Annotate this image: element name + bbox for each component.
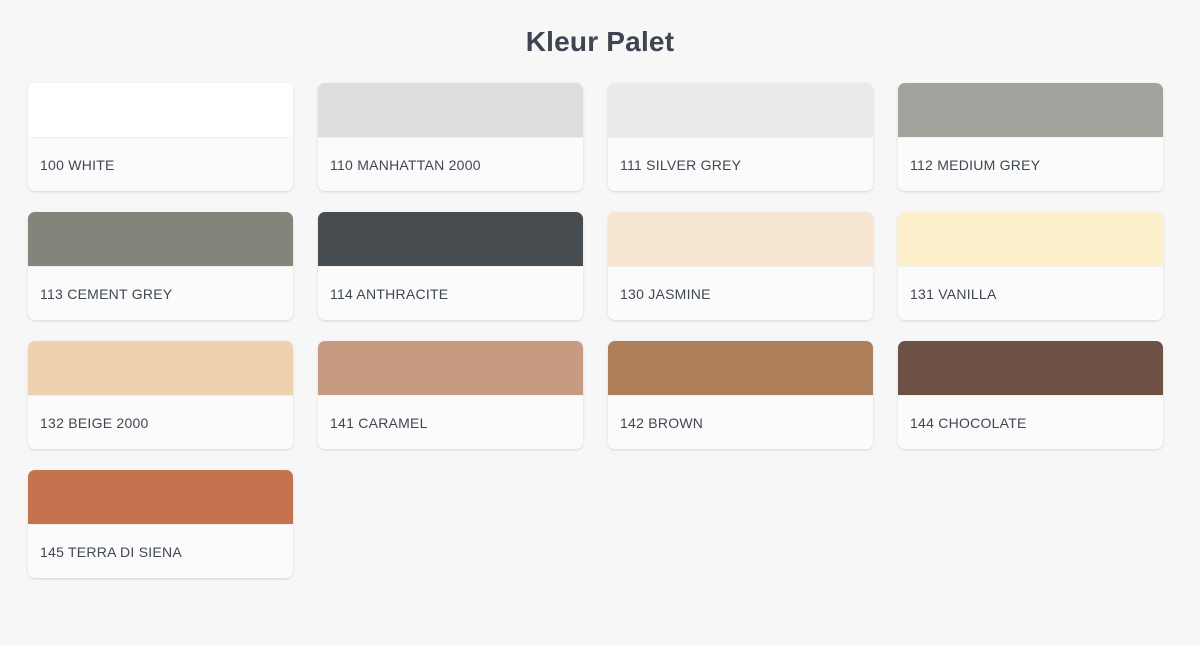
color-card[interactable]: 145 TERRA DI SIENA bbox=[28, 470, 293, 578]
color-card[interactable]: 141 CARAMEL bbox=[318, 341, 583, 449]
color-palette-page: Kleur Palet 100 WHITE110 MANHATTAN 20001… bbox=[0, 0, 1200, 646]
color-label: 130 JASMINE bbox=[608, 285, 711, 303]
color-label: 142 BROWN bbox=[608, 414, 703, 432]
color-card[interactable]: 130 JASMINE bbox=[608, 212, 873, 320]
color-label: 111 SILVER GREY bbox=[608, 156, 741, 174]
color-swatch bbox=[28, 83, 293, 137]
color-card[interactable]: 144 CHOCOLATE bbox=[898, 341, 1163, 449]
color-label: 114 ANTHRACITE bbox=[318, 285, 448, 303]
color-swatch bbox=[898, 341, 1163, 395]
color-label-row: 111 SILVER GREY bbox=[608, 137, 873, 191]
color-label-row: 110 MANHATTAN 2000 bbox=[318, 137, 583, 191]
color-label-row: 112 MEDIUM GREY bbox=[898, 137, 1163, 191]
color-label-row: 141 CARAMEL bbox=[318, 395, 583, 449]
color-label-row: 142 BROWN bbox=[608, 395, 873, 449]
color-label: 110 MANHATTAN 2000 bbox=[318, 156, 481, 174]
color-card[interactable]: 131 VANILLA bbox=[898, 212, 1163, 320]
color-swatch bbox=[28, 470, 293, 524]
color-label-row: 132 BEIGE 2000 bbox=[28, 395, 293, 449]
color-card[interactable]: 110 MANHATTAN 2000 bbox=[318, 83, 583, 191]
color-label: 100 WHITE bbox=[28, 156, 115, 174]
color-label: 132 BEIGE 2000 bbox=[28, 414, 149, 432]
color-card[interactable]: 114 ANTHRACITE bbox=[318, 212, 583, 320]
color-label: 131 VANILLA bbox=[898, 285, 997, 303]
color-card[interactable]: 142 BROWN bbox=[608, 341, 873, 449]
color-card[interactable]: 100 WHITE bbox=[28, 83, 293, 191]
color-card[interactable]: 132 BEIGE 2000 bbox=[28, 341, 293, 449]
color-label: 144 CHOCOLATE bbox=[898, 414, 1027, 432]
color-label-row: 144 CHOCOLATE bbox=[898, 395, 1163, 449]
page-title: Kleur Palet bbox=[0, 0, 1200, 59]
color-swatch bbox=[608, 212, 873, 266]
color-swatch bbox=[28, 212, 293, 266]
color-label-row: 114 ANTHRACITE bbox=[318, 266, 583, 320]
color-palette-grid: 100 WHITE110 MANHATTAN 2000111 SILVER GR… bbox=[0, 59, 1200, 578]
color-label: 145 TERRA DI SIENA bbox=[28, 543, 182, 561]
color-card[interactable]: 112 MEDIUM GREY bbox=[898, 83, 1163, 191]
color-swatch bbox=[318, 212, 583, 266]
color-label: 141 CARAMEL bbox=[318, 414, 428, 432]
color-swatch bbox=[608, 341, 873, 395]
color-card[interactable]: 113 CEMENT GREY bbox=[28, 212, 293, 320]
color-label-row: 130 JASMINE bbox=[608, 266, 873, 320]
color-label: 113 CEMENT GREY bbox=[28, 285, 172, 303]
color-swatch bbox=[898, 212, 1163, 266]
color-card[interactable]: 111 SILVER GREY bbox=[608, 83, 873, 191]
color-label: 112 MEDIUM GREY bbox=[898, 156, 1040, 174]
color-swatch bbox=[608, 83, 873, 137]
color-swatch bbox=[28, 341, 293, 395]
color-swatch bbox=[898, 83, 1163, 137]
color-swatch bbox=[318, 83, 583, 137]
color-label-row: 100 WHITE bbox=[28, 137, 293, 191]
color-swatch bbox=[318, 341, 583, 395]
color-label-row: 131 VANILLA bbox=[898, 266, 1163, 320]
color-label-row: 113 CEMENT GREY bbox=[28, 266, 293, 320]
color-label-row: 145 TERRA DI SIENA bbox=[28, 524, 293, 578]
